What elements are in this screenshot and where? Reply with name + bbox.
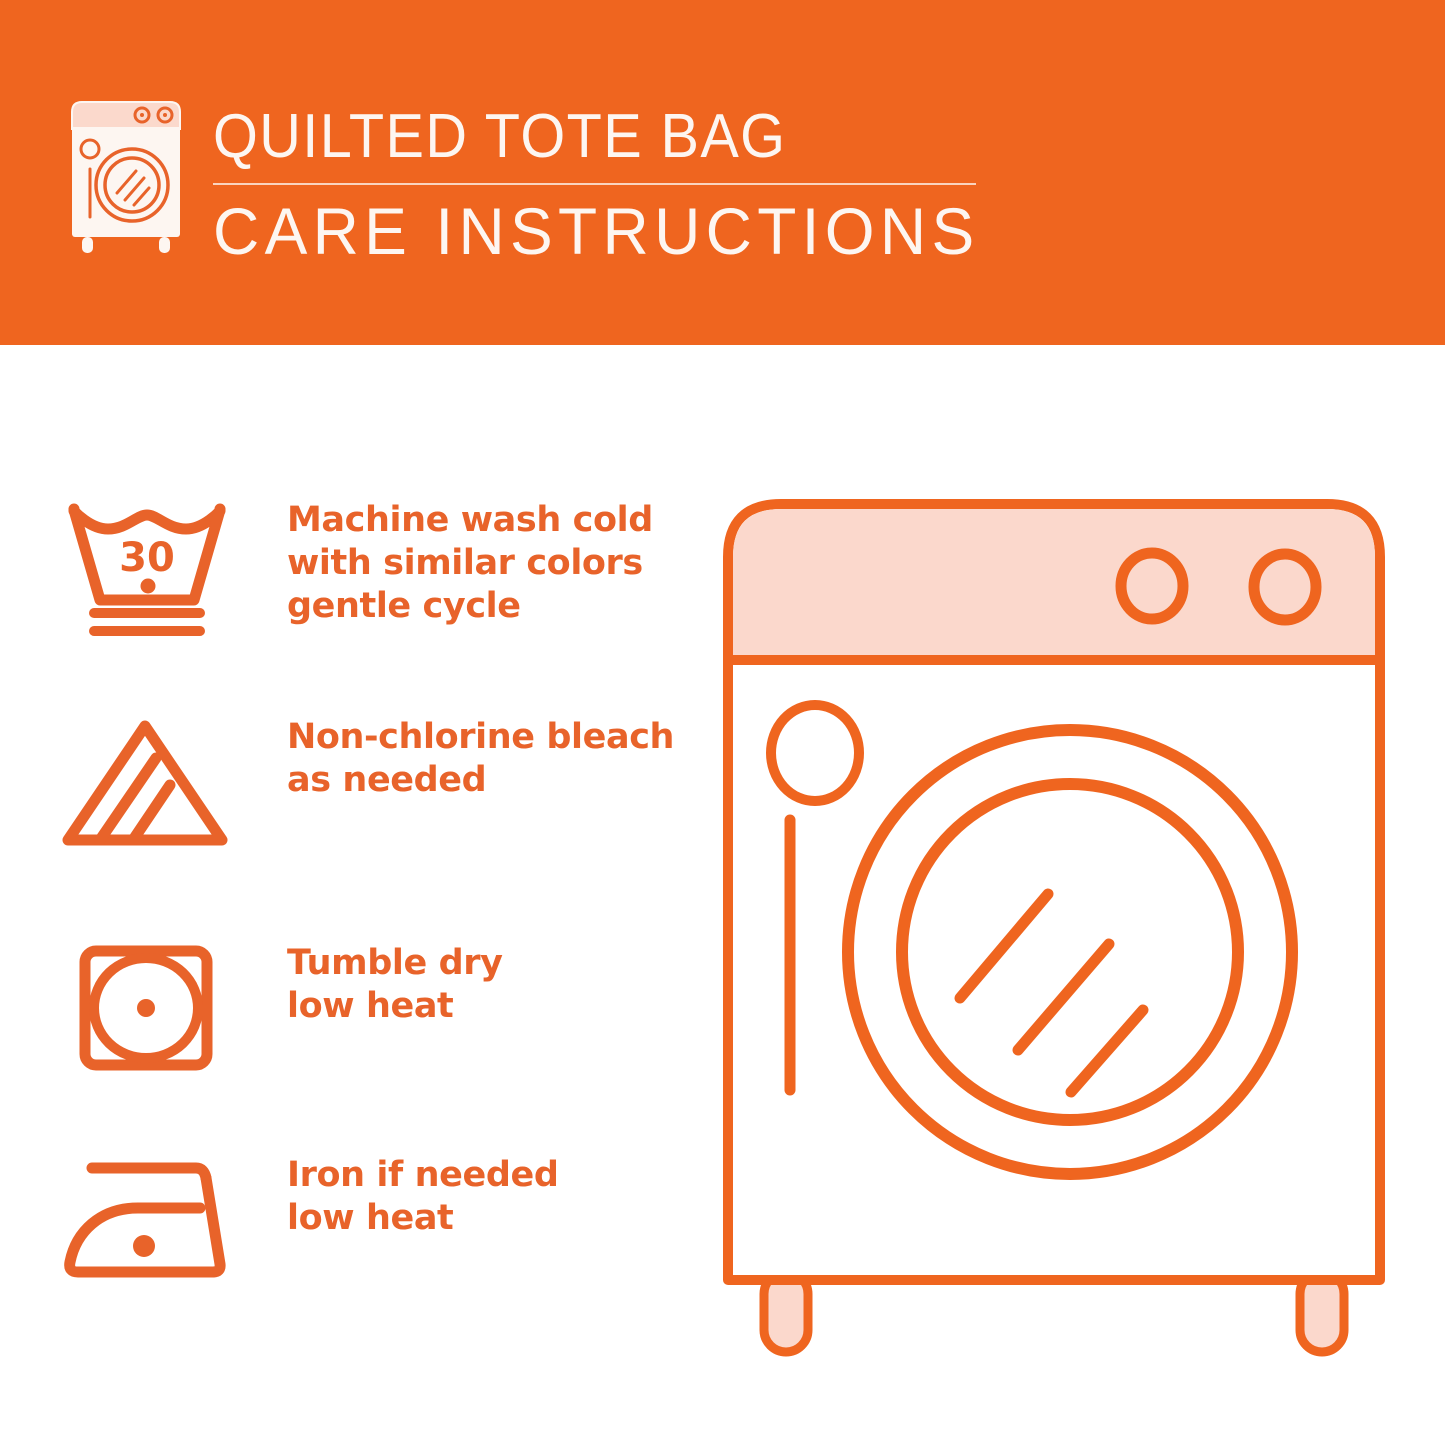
knob-right — [1254, 554, 1316, 620]
wash-temperature-label: 30 — [119, 535, 175, 581]
bleach-triangle-icon — [60, 712, 235, 852]
washing-machine-icon — [64, 97, 188, 257]
care-label-iron: Iron if needed low heat — [287, 1150, 558, 1240]
care-row-bleach: Non-chlorine bleach as needed — [60, 712, 700, 852]
care-label-machine-wash: Machine wash cold with similar colors ge… — [287, 495, 653, 628]
iron-icon — [60, 1150, 235, 1290]
header-band: QUILTED TOTE BAG CARE INSTRUCTIONS — [0, 0, 1445, 345]
page-title: QUILTED TOTE BAG — [213, 103, 938, 171]
knob-left — [1121, 553, 1183, 619]
title-divider — [213, 183, 976, 185]
care-label-tumble-dry: Tumble dry low heat — [287, 938, 503, 1028]
care-label-bleach: Non-chlorine bleach as needed — [287, 712, 674, 802]
tumble-dry-icon — [60, 938, 235, 1078]
header-text-block: QUILTED TOTE BAG CARE INSTRUCTIONS — [213, 103, 993, 267]
care-row-machine-wash: 30 Machine wash cold with similar colors… — [60, 495, 700, 645]
care-row-iron: Iron if needed low heat — [60, 1150, 700, 1290]
washing-machine-illustration — [718, 482, 1390, 1372]
care-row-tumble-dry: Tumble dry low heat — [60, 938, 700, 1078]
wash-tub-icon: 30 — [60, 495, 235, 645]
page-subtitle: CARE INSTRUCTIONS — [213, 195, 970, 267]
care-instructions-page: QUILTED TOTE BAG CARE INSTRUCTIONS 30 Ma… — [0, 0, 1445, 1445]
